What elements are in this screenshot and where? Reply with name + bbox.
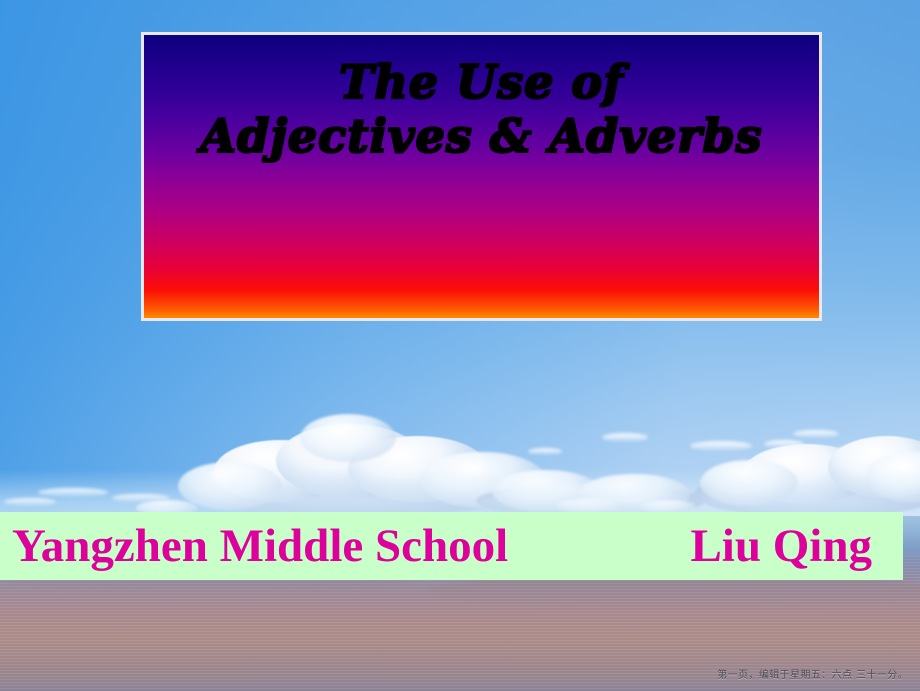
- slide-title: The Use of Adjectives & Adverbs: [144, 55, 819, 163]
- cloud-wisp: [690, 441, 752, 451]
- cloud-wisp: [602, 433, 648, 442]
- presentation-slide: The Use of Adjectives & Adverbs Yangzhen…: [0, 0, 920, 691]
- cloud-wisp: [528, 448, 562, 455]
- presenter-name: Liu Qing: [690, 520, 872, 572]
- title-box: The Use of Adjectives & Adverbs: [141, 32, 822, 321]
- footer-note: 第一页，编辑于星期五：六点 三十一分。: [717, 669, 908, 683]
- cloud-puff: [300, 414, 396, 462]
- cloud-wisp: [793, 430, 839, 438]
- school-name: Yangzhen Middle School: [12, 520, 508, 572]
- name-band: Yangzhen Middle School Liu Qing: [0, 512, 903, 580]
